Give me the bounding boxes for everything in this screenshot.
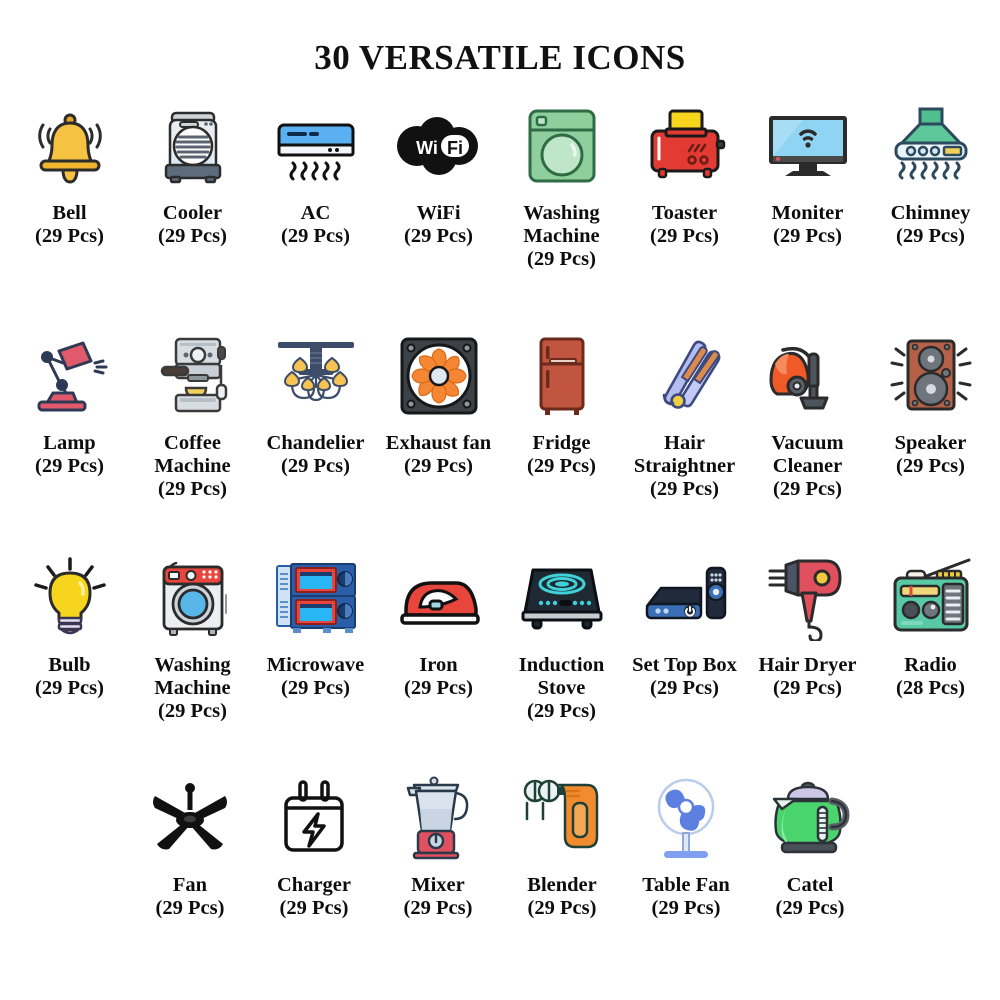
icon-cell-charger[interactable]: Charger (29 Pcs) [252, 772, 376, 920]
icon-cell-mixer[interactable]: Mixer (29 Pcs) [376, 772, 500, 920]
iron-icon [393, 552, 485, 644]
icon-count: (29 Pcs) [35, 455, 104, 478]
icon-label: Bell [52, 202, 86, 225]
icon-label: Cooler [163, 202, 222, 225]
bulb-icon [24, 552, 116, 644]
icon-cell-washing-machine-front-load[interactable]: Washing Machine (29 Pcs) [131, 552, 254, 723]
icon-label: Moniter [772, 202, 844, 225]
chandelier-icon [270, 330, 362, 422]
icon-cell-speaker[interactable]: Speaker (29 Pcs) [869, 330, 992, 478]
icon-cell-table-fan[interactable]: Table Fan (29 Pcs) [624, 772, 748, 920]
icon-label: WiFi [416, 202, 460, 225]
icon-count: (29 Pcs) [281, 455, 350, 478]
ac-icon [270, 100, 362, 192]
exhaust-fan-icon [393, 330, 485, 422]
cooler-icon [147, 100, 239, 192]
icon-count: (29 Pcs) [280, 897, 349, 920]
icon-count: (29 Pcs) [650, 478, 719, 501]
icon-cell-ceiling-fan[interactable]: Fan (29 Pcs) [128, 772, 252, 920]
icon-cell-chandelier[interactable]: Chandelier (29 Pcs) [254, 330, 377, 478]
charger-icon [268, 772, 360, 864]
icon-label: Chandelier [267, 432, 365, 455]
icon-label: Hair Straightner [623, 432, 746, 478]
icon-label: Hair Dryer [758, 654, 856, 677]
icon-label: Radio [904, 654, 956, 677]
icon-count: (29 Pcs) [650, 677, 719, 700]
icon-cell-hair-dryer[interactable]: Hair Dryer (29 Pcs) [746, 552, 869, 700]
icon-cell-lamp[interactable]: Lamp (29 Pcs) [8, 330, 131, 478]
icon-count: (29 Pcs) [773, 225, 842, 248]
lamp-icon [24, 330, 116, 422]
icon-count: (29 Pcs) [404, 455, 473, 478]
icon-grid: Bell (29 Pcs) [0, 100, 1000, 952]
icon-count: (29 Pcs) [281, 677, 350, 700]
icon-label: Fridge [532, 432, 590, 455]
icon-label: Microwave [267, 654, 365, 677]
hair-straightener-icon [639, 330, 731, 422]
svg-text:Fi: Fi [447, 138, 463, 158]
icon-count: (29 Pcs) [527, 248, 596, 271]
icon-cell-set-top-box[interactable]: Set Top Box (29 Pcs) [623, 552, 746, 700]
wifi-icon: Wi Fi [393, 100, 485, 192]
icon-cell-hair-straightener[interactable]: Hair Straightner (29 Pcs) [623, 330, 746, 501]
icon-count: (29 Pcs) [404, 677, 473, 700]
icon-cell-ac[interactable]: AC (29 Pcs) [254, 100, 377, 248]
icon-label: Catel [787, 874, 834, 897]
coffee-machine-icon [147, 330, 239, 422]
icon-count: (29 Pcs) [158, 700, 227, 723]
icon-row-1: Bell (29 Pcs) [0, 100, 1000, 330]
icon-label: Coffee Machine [131, 432, 254, 478]
icon-label: Induction Stove [500, 654, 623, 700]
hair-dryer-icon [762, 552, 854, 644]
icon-count: (29 Pcs) [158, 478, 227, 501]
icon-cell-kettle[interactable]: Catel (29 Pcs) [748, 772, 872, 920]
vacuum-cleaner-icon [762, 330, 854, 422]
mixer-icon [392, 772, 484, 864]
icon-row-4: Fan (29 Pcs) Charger (29 Pcs) [0, 772, 1000, 952]
icon-count: (28 Pcs) [896, 677, 965, 700]
radio-icon [885, 552, 977, 644]
icon-sheet-page: 30 VERSATILE ICONS [0, 0, 1000, 1000]
blender-icon [516, 772, 608, 864]
icon-label: Exhaust fan [386, 432, 491, 455]
ceiling-fan-icon [144, 772, 236, 864]
icon-cell-coffee-machine[interactable]: Coffee Machine (29 Pcs) [131, 330, 254, 501]
icon-label: Washing Machine [500, 202, 623, 248]
kettle-icon [764, 772, 856, 864]
icon-count: (29 Pcs) [404, 225, 473, 248]
bell-icon [24, 100, 116, 192]
icon-count: (29 Pcs) [776, 897, 845, 920]
icon-label: Table Fan [642, 874, 730, 897]
icon-count: (29 Pcs) [281, 225, 350, 248]
icon-label: Vacuum Cleaner [746, 432, 869, 478]
icon-label: Bulb [48, 654, 90, 677]
icon-cell-washing-machine[interactable]: Washing Machine (29 Pcs) [500, 100, 623, 271]
icon-cell-bell[interactable]: Bell (29 Pcs) [8, 100, 131, 248]
icon-label: Speaker [895, 432, 967, 455]
icon-count: (29 Pcs) [650, 225, 719, 248]
washing-machine-icon [516, 100, 608, 192]
icon-cell-fridge[interactable]: Fridge (29 Pcs) [500, 330, 623, 478]
svg-text:Wi: Wi [416, 138, 438, 158]
icon-cell-cooler[interactable]: Cooler (29 Pcs) [131, 100, 254, 248]
icon-cell-chimney[interactable]: Chimney (29 Pcs) [869, 100, 992, 248]
page-title: 30 VERSATILE ICONS [0, 0, 1000, 78]
set-top-box-icon [639, 552, 731, 644]
icon-label: Toaster [652, 202, 717, 225]
icon-cell-bulb[interactable]: Bulb (29 Pcs) [8, 552, 131, 700]
icon-row-3: Bulb (29 Pcs) [0, 552, 1000, 772]
icon-label: Charger [277, 874, 351, 897]
chimney-icon [885, 100, 977, 192]
icon-count: (29 Pcs) [773, 478, 842, 501]
toaster-icon [639, 100, 731, 192]
speaker-icon [885, 330, 977, 422]
icon-cell-blender[interactable]: Blender (29 Pcs) [500, 772, 624, 920]
icon-label: Set Top Box [632, 654, 737, 677]
icon-count: (29 Pcs) [528, 897, 597, 920]
icon-count: (29 Pcs) [527, 455, 596, 478]
icon-cell-vacuum-cleaner[interactable]: Vacuum Cleaner (29 Pcs) [746, 330, 869, 501]
icon-label: Chimney [891, 202, 971, 225]
fridge-icon [516, 330, 608, 422]
icon-label: Iron [419, 654, 457, 677]
icon-cell-exhaust-fan[interactable]: Exhaust fan (29 Pcs) [377, 330, 500, 478]
icon-count: (29 Pcs) [404, 897, 473, 920]
icon-count: (29 Pcs) [527, 700, 596, 723]
table-fan-icon [640, 772, 732, 864]
icon-row-2: Lamp (29 Pcs) [0, 330, 1000, 552]
icon-label: Mixer [411, 874, 465, 897]
icon-cell-radio[interactable]: Radio (28 Pcs) [869, 552, 992, 700]
icon-count: (29 Pcs) [35, 225, 104, 248]
washing-machine-front-load-icon [147, 552, 239, 644]
icon-label: Washing Machine [131, 654, 254, 700]
monitor-icon [762, 100, 854, 192]
icon-count: (29 Pcs) [35, 677, 104, 700]
icon-cell-iron[interactable]: Iron (29 Pcs) [377, 552, 500, 700]
icon-count: (29 Pcs) [773, 677, 842, 700]
icon-label: Lamp [43, 432, 95, 455]
icon-count: (29 Pcs) [156, 897, 225, 920]
icon-cell-wifi[interactable]: Wi Fi WiFi (29 Pcs) [377, 100, 500, 248]
icon-cell-microwave[interactable]: Microwave (29 Pcs) [254, 552, 377, 700]
icon-count: (29 Pcs) [158, 225, 227, 248]
icon-label: Blender [527, 874, 596, 897]
icon-label: AC [301, 202, 331, 225]
icon-count: (29 Pcs) [896, 455, 965, 478]
icon-label: Fan [173, 874, 207, 897]
icon-cell-monitor[interactable]: Moniter (29 Pcs) [746, 100, 869, 248]
icon-cell-induction-stove[interactable]: Induction Stove (29 Pcs) [500, 552, 623, 723]
icon-cell-toaster[interactable]: Toaster (29 Pcs) [623, 100, 746, 248]
microwave-icon [270, 552, 362, 644]
icon-count: (29 Pcs) [896, 225, 965, 248]
induction-stove-icon [516, 552, 608, 644]
icon-count: (29 Pcs) [652, 897, 721, 920]
